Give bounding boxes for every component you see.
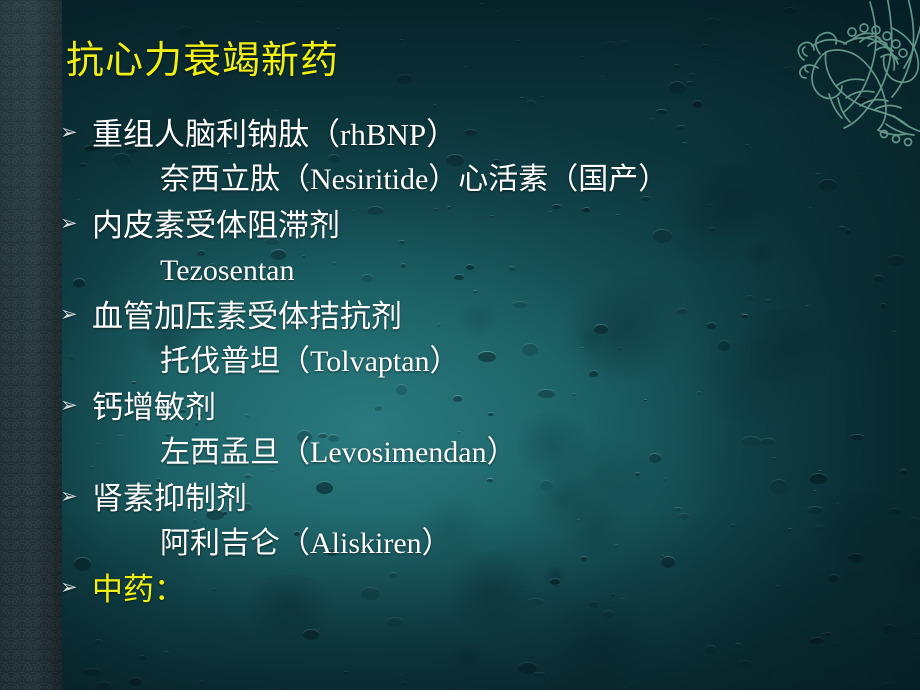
arrow-bullet-icon: ➢ [60, 304, 84, 326]
bullet-row: ➢ 钙增敏剂 [0, 385, 920, 430]
bullet-heading: 中药： [92, 567, 185, 612]
arrow-bullet-icon: ➢ [60, 577, 84, 599]
list-item: ➢ 重组人脑利钠肽（rhBNP） 奈西立肽（Nesiritide）心活素（国产） [0, 112, 920, 203]
bullet-row: ➢ 肾素抑制剂 [0, 476, 920, 521]
presentation-slide: 抗心力衰竭新药 ➢ 重组人脑利钠肽（rhBNP） 奈西立肽（Nesiritide… [0, 0, 920, 690]
bullet-subtext: 托伐普坦（Tolvaptan） [160, 339, 920, 385]
bullet-row: ➢ 内皮素受体阻滞剂 [0, 203, 920, 248]
bullet-subtext: 阿利吉仑（Aliskiren） [160, 521, 920, 567]
list-item: ➢ 中药： [0, 567, 920, 612]
bullet-heading: 血管加压素受体拮抗剂 [92, 294, 402, 339]
bullet-heading: 肾素抑制剂 [92, 476, 247, 521]
bullet-heading: 钙增敏剂 [92, 385, 216, 430]
page-title: 抗心力衰竭新药 [66, 41, 339, 83]
bullet-row: ➢ 中药： [0, 567, 920, 612]
list-item: ➢ 血管加压素受体拮抗剂 托伐普坦（Tolvaptan） [0, 294, 920, 385]
list-item: ➢ 肾素抑制剂 阿利吉仑（Aliskiren） [0, 476, 920, 567]
bullet-row: ➢ 血管加压素受体拮抗剂 [0, 294, 920, 339]
bullet-heading: 内皮素受体阻滞剂 [92, 203, 340, 248]
bullet-subtext: Tezosentan [160, 248, 920, 294]
bullet-subtext: 奈西立肽（Nesiritide）心活素（国产） [160, 157, 920, 203]
arrow-bullet-icon: ➢ [60, 395, 84, 417]
arrow-bullet-icon: ➢ [60, 213, 84, 235]
bullet-row: ➢ 重组人脑利钠肽（rhBNP） [0, 112, 920, 157]
bullet-subtext: 左西孟旦（Levosimendan） [160, 430, 920, 476]
arrow-bullet-icon: ➢ [60, 122, 84, 144]
list-item: ➢ 钙增敏剂 左西孟旦（Levosimendan） [0, 385, 920, 476]
bullet-list: ➢ 重组人脑利钠肽（rhBNP） 奈西立肽（Nesiritide）心活素（国产）… [0, 112, 920, 612]
arrow-bullet-icon: ➢ [60, 486, 84, 508]
bullet-heading: 重组人脑利钠肽（rhBNP） [92, 112, 457, 157]
list-item: ➢ 内皮素受体阻滞剂 Tezosentan [0, 203, 920, 294]
